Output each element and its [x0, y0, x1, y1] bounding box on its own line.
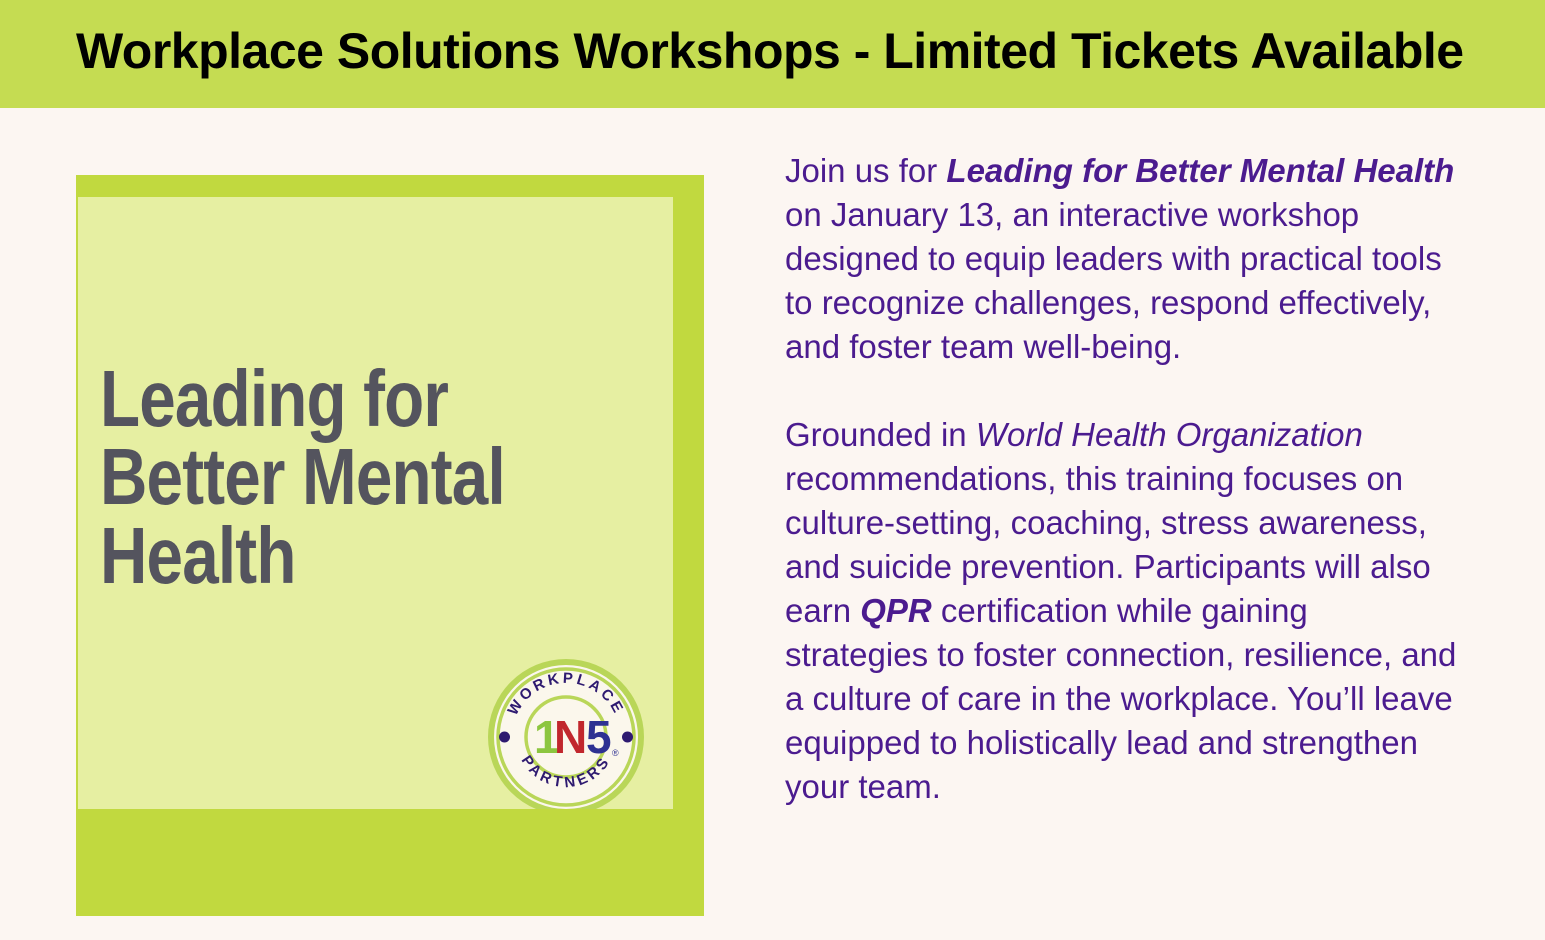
- svg-text:N: N: [554, 711, 587, 763]
- workplace-partners-seal-icon: WORKPLACE PARTNERS 1 N 5 ®: [486, 657, 646, 809]
- p1-workshop-title: Leading for Better Mental Health: [946, 152, 1454, 189]
- poster-heading-line-3: Health: [100, 517, 526, 595]
- p2-who-reference: World Health Organization: [976, 416, 1363, 453]
- poster-heading-line-1: Leading for: [100, 360, 526, 438]
- p1-lead: Join us for: [785, 152, 946, 189]
- description-copy: Join us for Leading for Better Mental He…: [785, 149, 1457, 809]
- svg-text:5: 5: [586, 711, 612, 763]
- poster-heading-line-2: Better Mental: [100, 438, 526, 516]
- p2-qpr-emphasis: QPR: [860, 592, 932, 629]
- page-title: Workplace Solutions Workshops - Limited …: [76, 23, 1464, 81]
- seal-center-wordmark: 1 N 5 ®: [534, 711, 619, 763]
- poster-card: Leading for Better Mental Health: [76, 175, 704, 916]
- seal-left-dot-icon: [499, 732, 510, 743]
- poster-panel: Leading for Better Mental Health: [78, 197, 673, 809]
- main-content: Leading for Better Mental Health: [0, 108, 1545, 940]
- p1-rest: on January 13, an interactive workshop d…: [785, 196, 1442, 365]
- p2-lead: Grounded in: [785, 416, 976, 453]
- paragraph-1: Join us for Leading for Better Mental He…: [785, 149, 1457, 369]
- svg-text:®: ®: [612, 748, 619, 758]
- seal-right-dot-icon: [622, 732, 633, 743]
- paragraph-2: Grounded in World Health Organization re…: [785, 413, 1457, 809]
- header-banner: Workplace Solutions Workshops - Limited …: [0, 0, 1545, 108]
- poster-heading: Leading for Better Mental Health: [100, 360, 526, 595]
